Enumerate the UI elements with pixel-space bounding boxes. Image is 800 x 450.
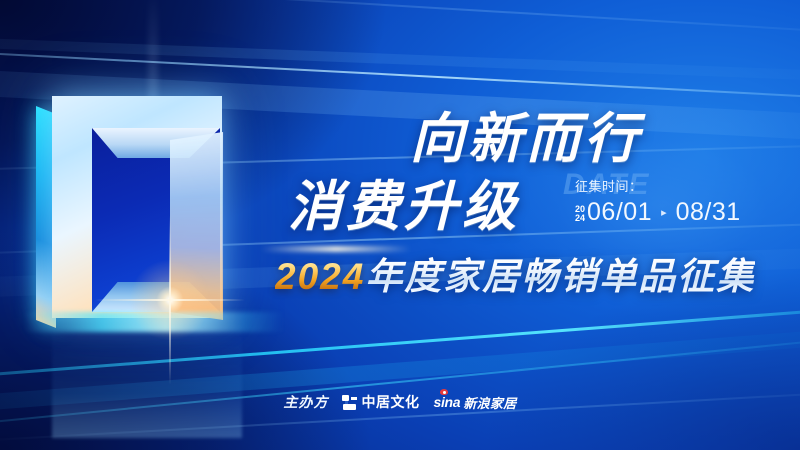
subtitle-text: 年度家居畅销单品征集 [365,256,755,297]
sina-wordmark-icon: sina [433,394,460,410]
sponsor-zhongju-name: 中居文化 [361,392,419,412]
headline-line-2: 消费升级 [288,180,520,234]
subtitle-bar: 2024年度家居畅销单品征集 [275,258,755,295]
date-end: 08/31 [676,199,741,225]
date-range-row: 20 24 06/01 ▸ 08/31 [575,199,785,225]
organizer-label: 主办方 [283,392,328,412]
sina-wordmark-text: sina [433,394,460,410]
promo-banner: 向新而行 消费升级 DATE 征集时间： 20 24 06/01 ▸ 08/31… [0,0,800,450]
headline-line-1: 向新而行 [410,112,642,166]
date-label: 征集时间： [575,176,785,195]
date-separator-icon: ▸ [661,206,667,219]
subtitle-year: 2024 [275,256,365,297]
banner-content: 向新而行 消费升级 DATE 征集时间： 20 24 06/01 ▸ 08/31… [0,0,800,450]
date-start: 06/01 [587,199,652,225]
sponsor-sina-name: 新浪家居 [463,393,516,412]
date-block: DATE 征集时间： 20 24 06/01 ▸ 08/31 [575,176,785,225]
date-year-bottom: 24 [575,214,585,224]
zhongju-mark-icon [342,395,357,410]
sponsor-sina-logo[interactable]: sina 新浪家居 [433,393,516,412]
date-year: 20 24 [575,201,585,224]
sponsor-zhongju-logo[interactable]: 中居文化 [342,392,419,412]
sina-eye-icon [440,389,448,395]
subtitle-sheen [261,246,411,252]
footer-sponsors: 主办方 中居文化 sina 新浪家居 [0,392,800,412]
